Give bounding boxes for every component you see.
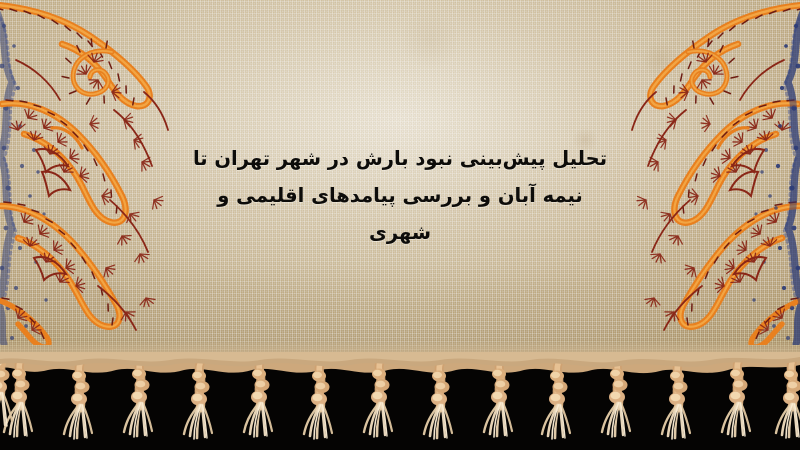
title-line-1: تحلیل پیش‌بینی نبود بارش در شهر تهران تا [0, 140, 800, 177]
title-card-stage: تحلیل پیش‌بینی نبود بارش در شهر تهران تا… [0, 0, 800, 450]
page-title: تحلیل پیش‌بینی نبود بارش در شهر تهران تا… [0, 140, 800, 251]
title-line-3: شهری [0, 214, 800, 251]
paisley-bottom-tail [0, 298, 49, 345]
title-line-2: نیمه آبان و بررسی پیامدهای اقلیمی و [0, 177, 800, 214]
cloth-bottom-edge [0, 352, 800, 374]
